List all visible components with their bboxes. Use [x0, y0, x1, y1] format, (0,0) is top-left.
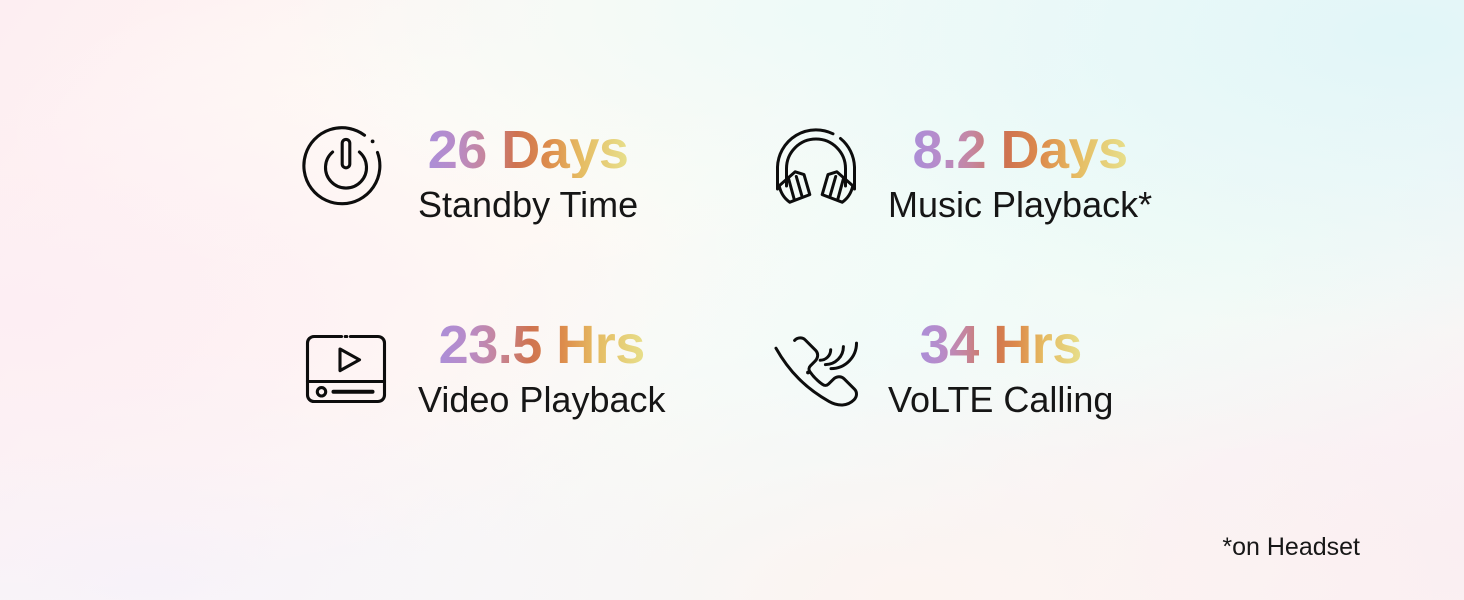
feature-grid: 26 Days Standby Time	[300, 120, 1220, 480]
feature-text-volte-calling: 34 Hrs VoLTE Calling	[888, 315, 1113, 421]
feature-label: Music Playback*	[888, 184, 1152, 226]
feature-item-volte-calling: 34 Hrs VoLTE Calling	[770, 315, 1220, 480]
feature-text-music-playback: 8.2 Days Music Playback*	[888, 120, 1152, 226]
feature-label: VoLTE Calling	[888, 379, 1113, 421]
feature-label: Video Playback	[418, 379, 666, 421]
power-icon	[300, 120, 392, 212]
feature-value: 23.5 Hrs	[439, 317, 645, 373]
feature-item-music-playback: 8.2 Days Music Playback*	[770, 120, 1220, 315]
phone-call-icon	[770, 323, 862, 415]
feature-value: 8.2 Days	[912, 122, 1127, 178]
video-player-icon	[300, 323, 392, 415]
footnote-on-headset: *on Headset	[1222, 533, 1360, 562]
feature-text-standby-time: 26 Days Standby Time	[418, 120, 638, 226]
feature-value: 34 Hrs	[920, 317, 1082, 373]
feature-item-video-playback: 23.5 Hrs Video Playback	[300, 315, 750, 480]
feature-item-standby-time: 26 Days Standby Time	[300, 120, 750, 315]
feature-value: 26 Days	[428, 122, 629, 178]
headphones-icon	[770, 120, 862, 212]
feature-text-video-playback: 23.5 Hrs Video Playback	[418, 315, 666, 421]
feature-label: Standby Time	[418, 184, 638, 226]
